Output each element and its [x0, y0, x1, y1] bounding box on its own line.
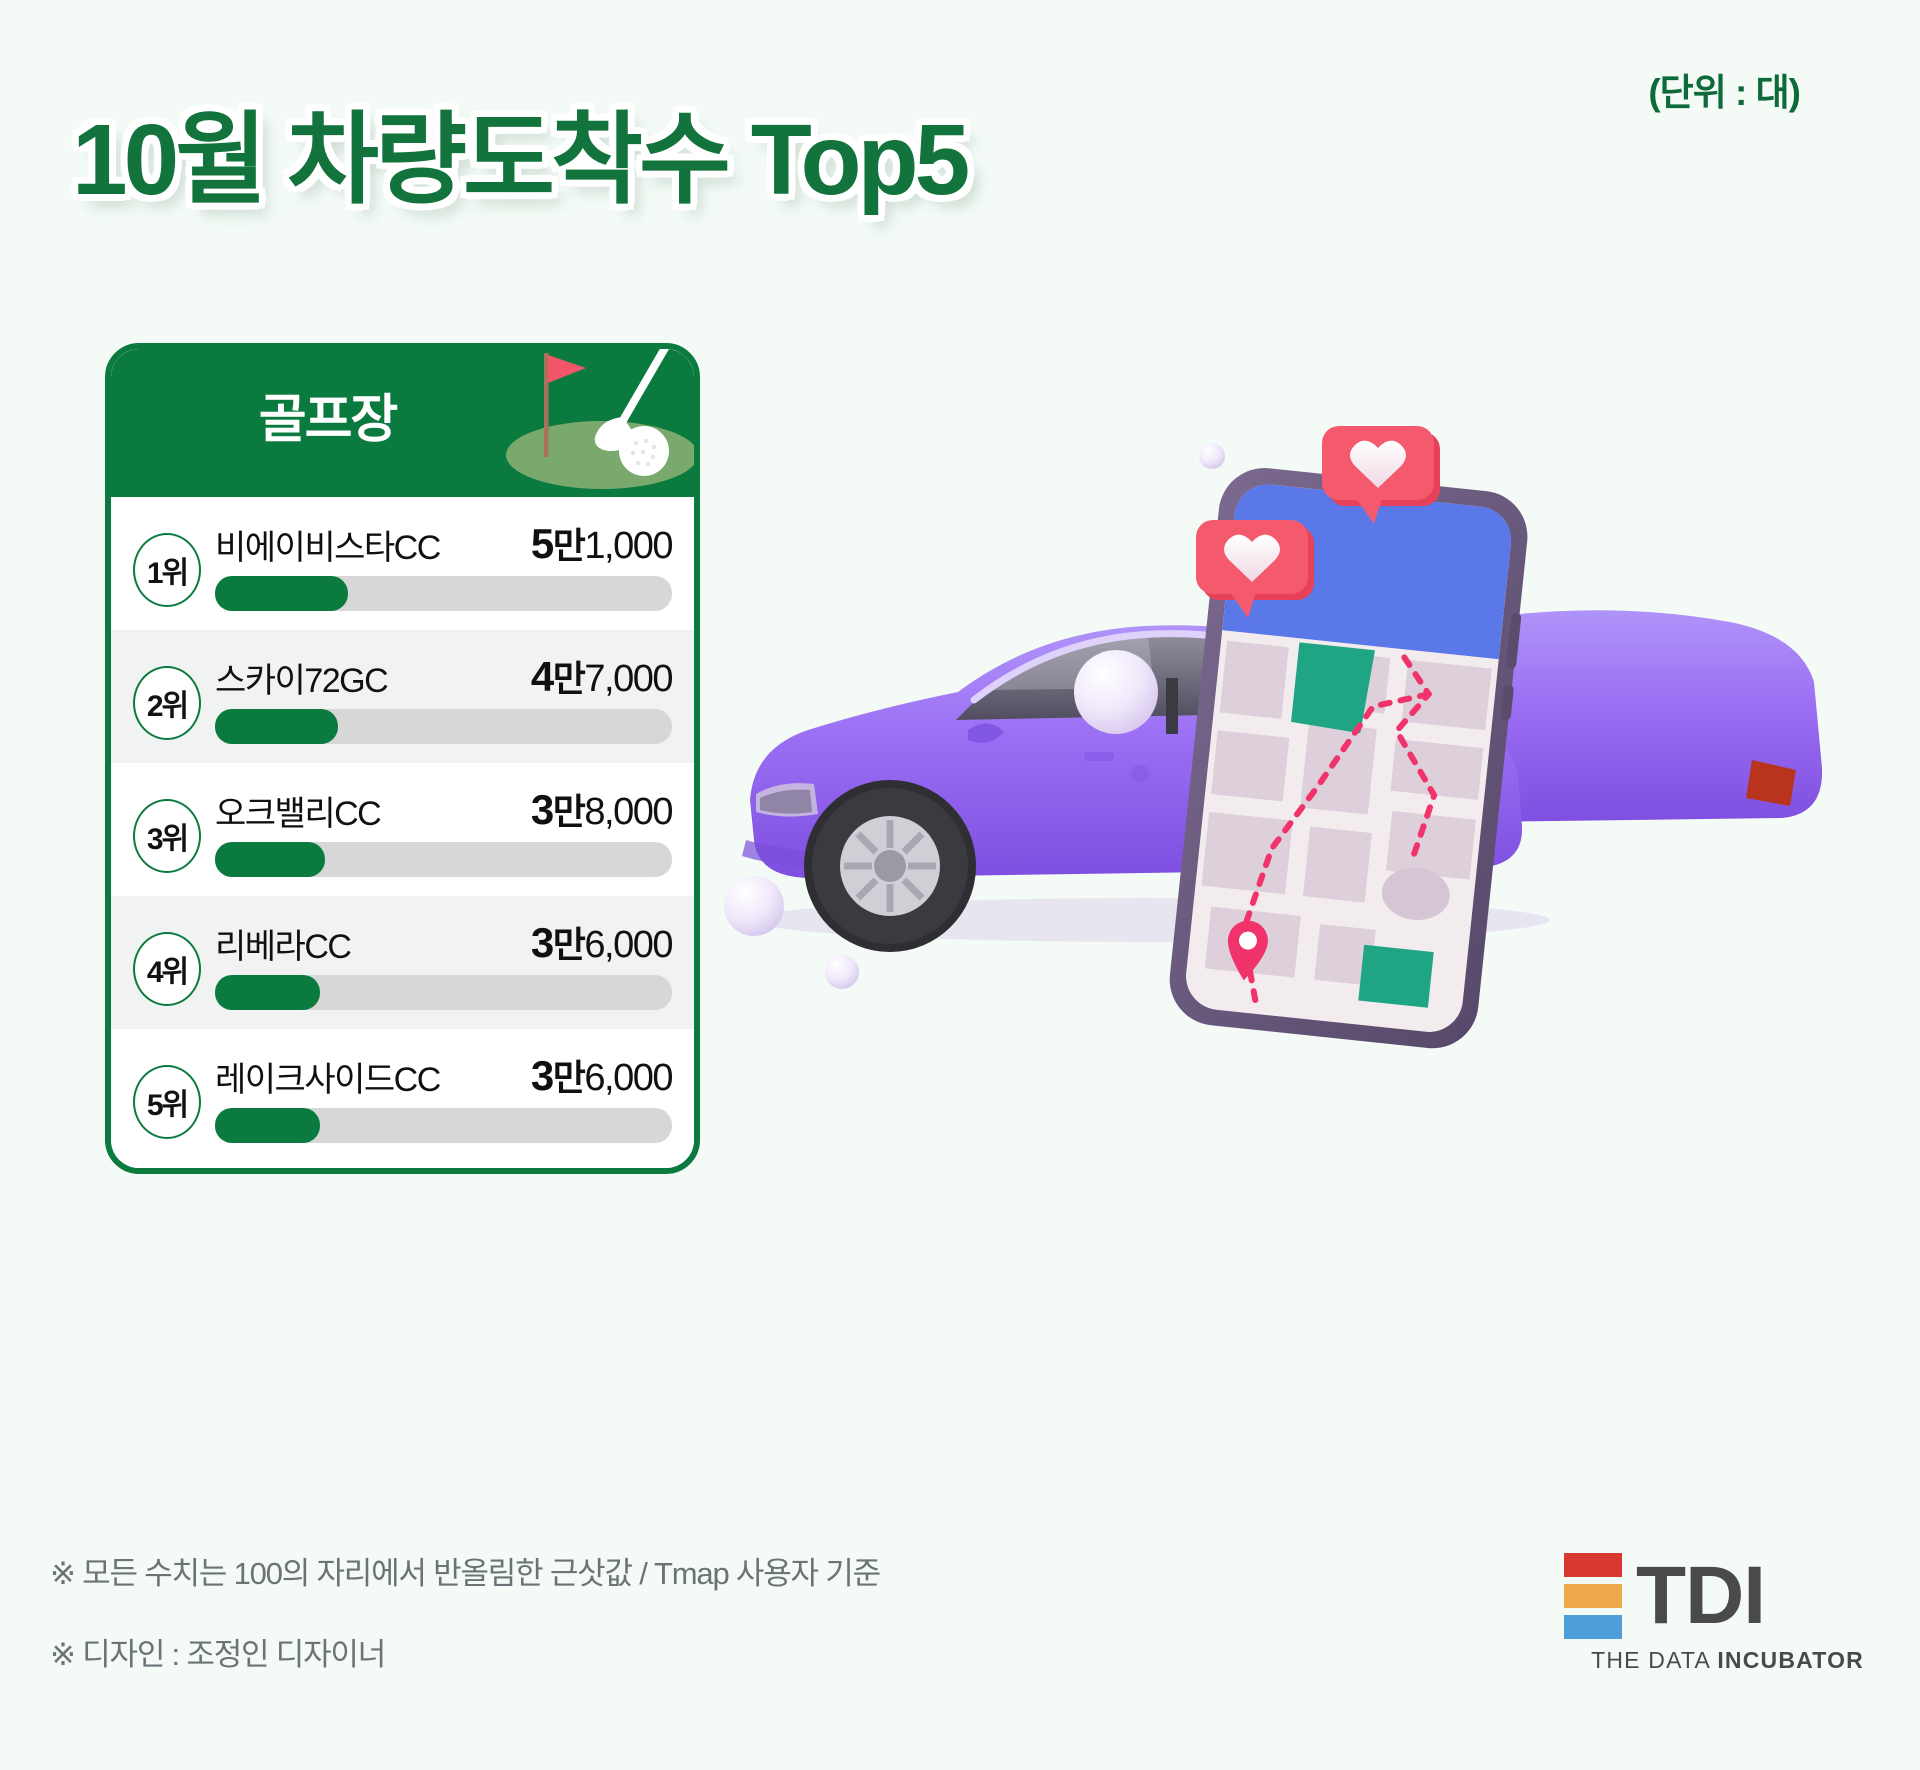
logo-bar-orange: [1564, 1584, 1622, 1608]
place-name: 오크밸리CC: [215, 797, 380, 831]
bar-track: [215, 576, 672, 611]
ranking-card: 골프장 1위 비에이비스타CC 5만1,000: [105, 343, 700, 1174]
table-row: 3위 오크밸리CC 3만8,000: [111, 763, 694, 896]
value-label: 4만7,000: [531, 656, 672, 698]
logo-tagline: THE DATA INCUBATOR: [1564, 1647, 1864, 1674]
value-label: 5만1,000: [531, 523, 672, 565]
rank-badge: 5위: [133, 1065, 201, 1139]
bar-track: [215, 1108, 672, 1143]
bar-track: [215, 975, 672, 1010]
decorative-sphere: [825, 955, 859, 989]
logo-tagline-bold: INCUBATOR: [1717, 1647, 1864, 1673]
page-title: 10월 차량도착수 Top5: [72, 108, 966, 213]
footnote-designer: ※ 디자인 : 조정인 디자이너: [50, 1629, 880, 1674]
table-row: 5위 레이크사이드CC 3만6,000: [111, 1029, 694, 1162]
table-row: 4위 리베라CC 3만6,000: [111, 896, 694, 1029]
value-label: 3만6,000: [531, 1055, 672, 1097]
decorative-sphere: [724, 876, 784, 936]
bar-fill: [215, 1108, 320, 1143]
bar-fill: [215, 576, 348, 611]
logo-bar-blue: [1564, 1615, 1622, 1639]
rank-badge: 4위: [133, 932, 201, 1006]
bar-fill: [215, 709, 338, 744]
tdi-logo: TDI THE DATA INCUBATOR: [1564, 1553, 1864, 1674]
rank-badge: 2위: [133, 666, 201, 740]
bar-track: [215, 709, 672, 744]
rank-badge: 3위: [133, 799, 201, 873]
bar-track: [215, 842, 672, 877]
logo-bar-red: [1564, 1553, 1622, 1577]
logo-tagline-light: THE DATA: [1591, 1647, 1717, 1673]
place-name: 스카이72GC: [215, 664, 387, 698]
footnotes: ※ 모든 수치는 100의 자리에서 반올림한 근삿값 / Tmap 사용자 기…: [50, 1548, 880, 1674]
decorative-sphere: [1199, 443, 1225, 469]
value-label: 3만8,000: [531, 789, 672, 831]
bar-fill: [215, 842, 325, 877]
ranking-list: 1위 비에이비스타CC 5만1,000 2위 스카이72GC 4만7,000: [111, 497, 694, 1168]
table-row: 2위 스카이72GC 4만7,000: [111, 630, 694, 763]
car-phone-illustration: [720, 400, 1870, 1060]
logo-wordmark: TDI: [1636, 1561, 1765, 1632]
rank-badge: 1위: [133, 533, 201, 607]
place-name: 레이크사이드CC: [215, 1063, 440, 1097]
value-label: 3만6,000: [531, 922, 672, 964]
place-name: 비에이비스타CC: [215, 531, 440, 565]
place-name: 리베라CC: [215, 930, 350, 964]
footnote-source: ※ 모든 수치는 100의 자리에서 반올림한 근삿값 / Tmap 사용자 기…: [50, 1548, 880, 1593]
card-header: 골프장: [111, 349, 694, 497]
golf-course-icon: [490, 343, 700, 505]
table-row: 1위 비에이비스타CC 5만1,000: [111, 497, 694, 630]
logo-bars-icon: [1564, 1553, 1622, 1639]
bar-fill: [215, 975, 320, 1010]
unit-label: (단위 : 대): [1648, 62, 1800, 116]
decorative-sphere: [1074, 650, 1158, 734]
